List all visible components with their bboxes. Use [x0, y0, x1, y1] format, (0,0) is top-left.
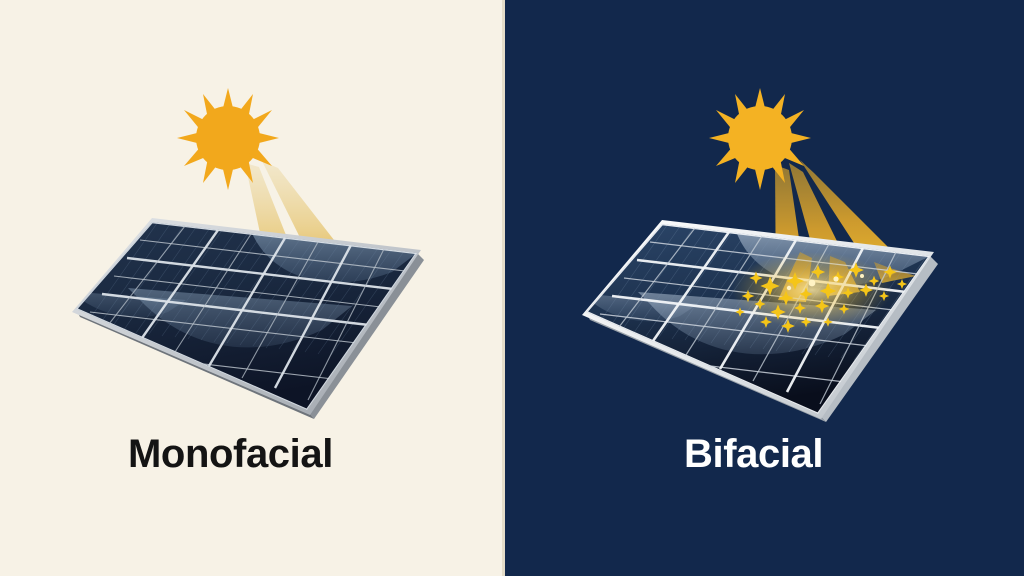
sun-icon: [177, 88, 279, 190]
left-panel-caption: Monofacial: [128, 432, 333, 477]
left-illustration: [66, 88, 433, 419]
scene-vector-layer: [0, 0, 1024, 576]
right-panel-caption: Bifacial: [684, 432, 823, 477]
right-illustration: [576, 88, 943, 422]
illustration-canvas: Monofacial Bifacial: [0, 0, 1024, 576]
